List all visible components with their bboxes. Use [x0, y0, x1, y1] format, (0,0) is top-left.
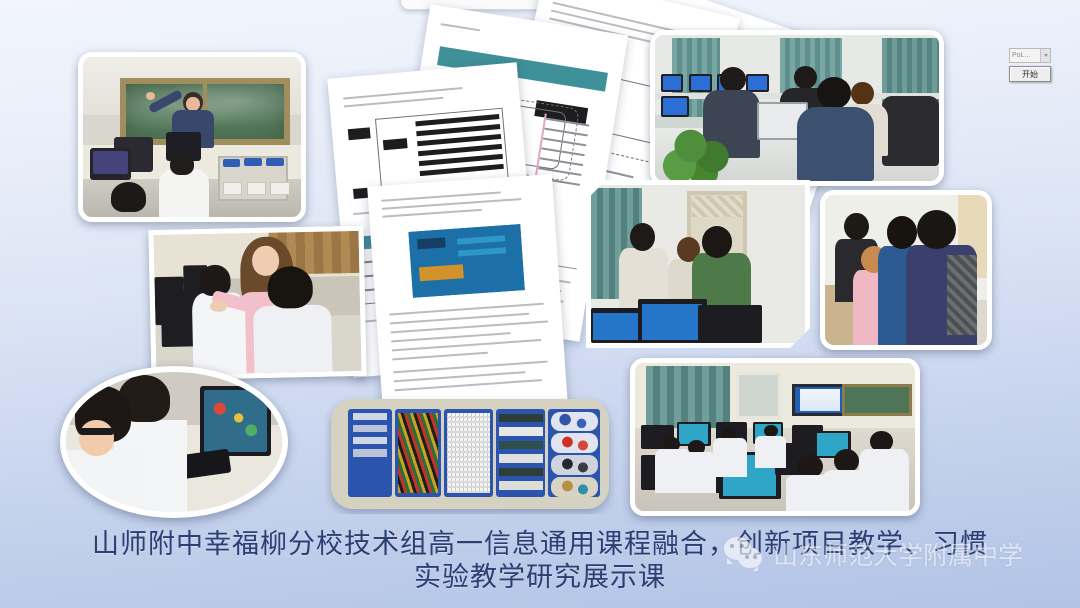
photo-components-tray [325, 392, 615, 514]
photo-teacher-meeting [650, 30, 944, 186]
start-button[interactable]: 开始 [1009, 66, 1051, 82]
photo-students-computer-oval [60, 366, 288, 518]
photo-full-computer-class [630, 358, 920, 516]
device-select-dropdown[interactable]: PoL... [1009, 48, 1051, 63]
wechat-logo-icon [724, 537, 766, 571]
watermark-text: 山东师范大学附属中学 [773, 536, 1023, 572]
photo-teachers-workdesk [820, 190, 992, 350]
wechat-watermark: 山东师范大学附属中学 [724, 536, 1023, 572]
photo-lab-teacher-students [148, 226, 366, 380]
presentation-slide: PoL... 开始 山师附中幸福柳分校技术组高一信息通用课程融合，创新项目教学、… [0, 0, 1080, 608]
chevron-down-icon[interactable] [1040, 49, 1050, 62]
photo-teachers-doorway [586, 180, 810, 348]
presentation-control-widget[interactable]: PoL... 开始 [1009, 48, 1051, 82]
photo-classroom-chalkboard [78, 52, 306, 222]
document-page-teaching-design [367, 174, 568, 416]
device-select-value: PoL... [1010, 49, 1040, 62]
